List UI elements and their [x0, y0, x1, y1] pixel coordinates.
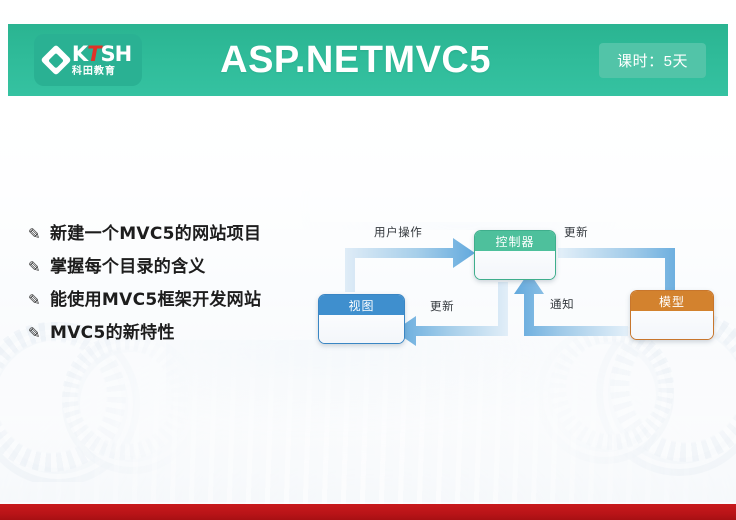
mvc-flow-diagram: 控制器 视图 模型 用户操作 更新 更新 通知 [312, 222, 724, 362]
node-view-label: 视图 [319, 295, 404, 315]
objective-text: 新建一个MVC5的网站项目 [50, 222, 261, 246]
node-model[interactable]: 模型 [630, 290, 714, 340]
node-view[interactable]: 视图 [318, 294, 405, 344]
node-model-body [631, 311, 713, 339]
node-model-label: 模型 [631, 291, 713, 311]
pencil-bullet-icon: ✎ [28, 289, 50, 313]
slide: KTSH 科田教育 ASP.NETMVC5 课时：5天 ✎ 新建一个MVC5的网… [0, 0, 736, 520]
page-title: ASP.NETMVC5 [112, 39, 599, 82]
list-item: ✎ MVC5的新特性 [28, 321, 328, 345]
arrow-label-user-action: 用户操作 [374, 224, 422, 240]
arrow-label-update-view: 更新 [430, 298, 454, 314]
arrow-label-update-model: 更新 [564, 224, 588, 240]
arrow-view-to-controller [345, 238, 475, 292]
arrow-label-notify: 通知 [550, 296, 574, 312]
list-item: ✎ 新建一个MVC5的网站项目 [28, 222, 328, 246]
footer-red-bar [0, 504, 736, 520]
objective-text: 能使用MVC5框架开发网站 [50, 288, 261, 312]
arrow-controller-to-view [394, 282, 508, 346]
diamond-logo-icon [40, 44, 71, 75]
node-controller-body [475, 251, 555, 279]
node-view-body [319, 315, 404, 343]
course-duration-badge: 课时：5天 [599, 43, 706, 78]
objective-text: 掌握每个目录的含义 [50, 255, 206, 279]
brand-accent-letter: T [87, 42, 100, 66]
node-controller[interactable]: 控制器 [474, 230, 556, 280]
brand-logo: KTSH 科田教育 [34, 34, 142, 86]
node-controller-label: 控制器 [475, 231, 555, 251]
pencil-bullet-icon: ✎ [28, 322, 50, 346]
objectives-list: ✎ 新建一个MVC5的网站项目 ✎ 掌握每个目录的含义 ✎ 能使用MVC5框架开… [28, 222, 328, 354]
list-item: ✎ 掌握每个目录的含义 [28, 255, 328, 279]
pencil-bullet-icon: ✎ [28, 223, 50, 247]
header-bar: KTSH 科田教育 ASP.NETMVC5 课时：5天 [8, 24, 728, 96]
list-item: ✎ 能使用MVC5框架开发网站 [28, 288, 328, 312]
objective-text: MVC5的新特性 [50, 321, 175, 345]
brand-name-latin: KTSH [72, 44, 131, 65]
brand-name-cn: 科田教育 [72, 67, 131, 77]
pencil-bullet-icon: ✎ [28, 256, 50, 280]
